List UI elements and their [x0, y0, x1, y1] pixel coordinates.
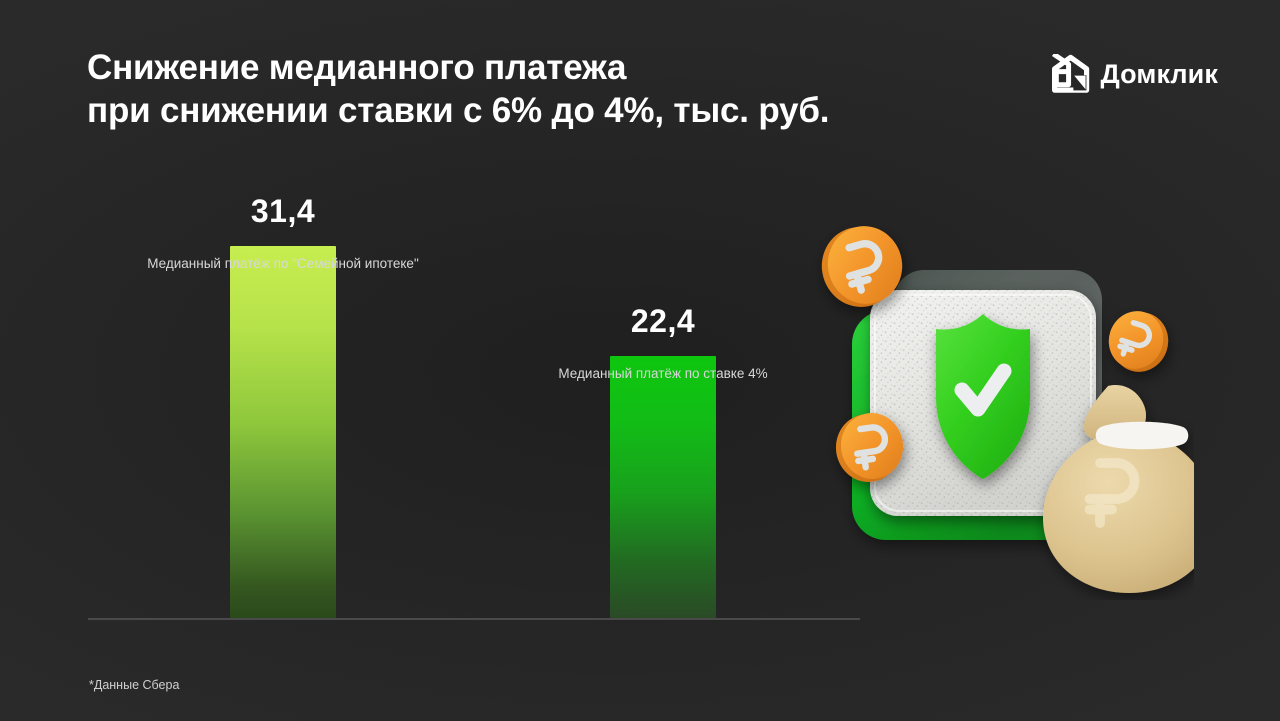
category-label-2: Медианный платёж по ставке 4%: [558, 366, 767, 381]
logo-wordmark: Домклик: [1101, 59, 1218, 90]
page-title: Снижение медианного платежа при снижении…: [87, 46, 1017, 132]
bar-2: [610, 356, 716, 618]
bar-value-label-1: 31,4: [251, 193, 315, 230]
chart-baseline-axis: [88, 618, 860, 620]
protection-illustration: [812, 222, 1194, 600]
bar-group-2: 22,4 Медианный платёж по ставке 4%: [610, 356, 716, 618]
ruble-coin-right: [1101, 304, 1176, 379]
domclick-house-icon: [1051, 54, 1091, 94]
brand-logo: Домклик: [1051, 54, 1218, 94]
source-footnote: *Данные Сбера: [89, 678, 179, 692]
bar-1: [230, 246, 336, 618]
category-label-1: Медианный платёж по "Семейной ипотеке": [147, 256, 418, 271]
infographic-canvas: Снижение медианного платежа при снижении…: [0, 0, 1280, 721]
bar-chart: 31,4 Медианный платёж по "Семейной ипоте…: [88, 180, 860, 620]
bar-group-1: 31,4 Медианный платёж по "Семейной ипоте…: [230, 246, 336, 618]
bar-value-label-2: 22,4: [631, 303, 695, 340]
